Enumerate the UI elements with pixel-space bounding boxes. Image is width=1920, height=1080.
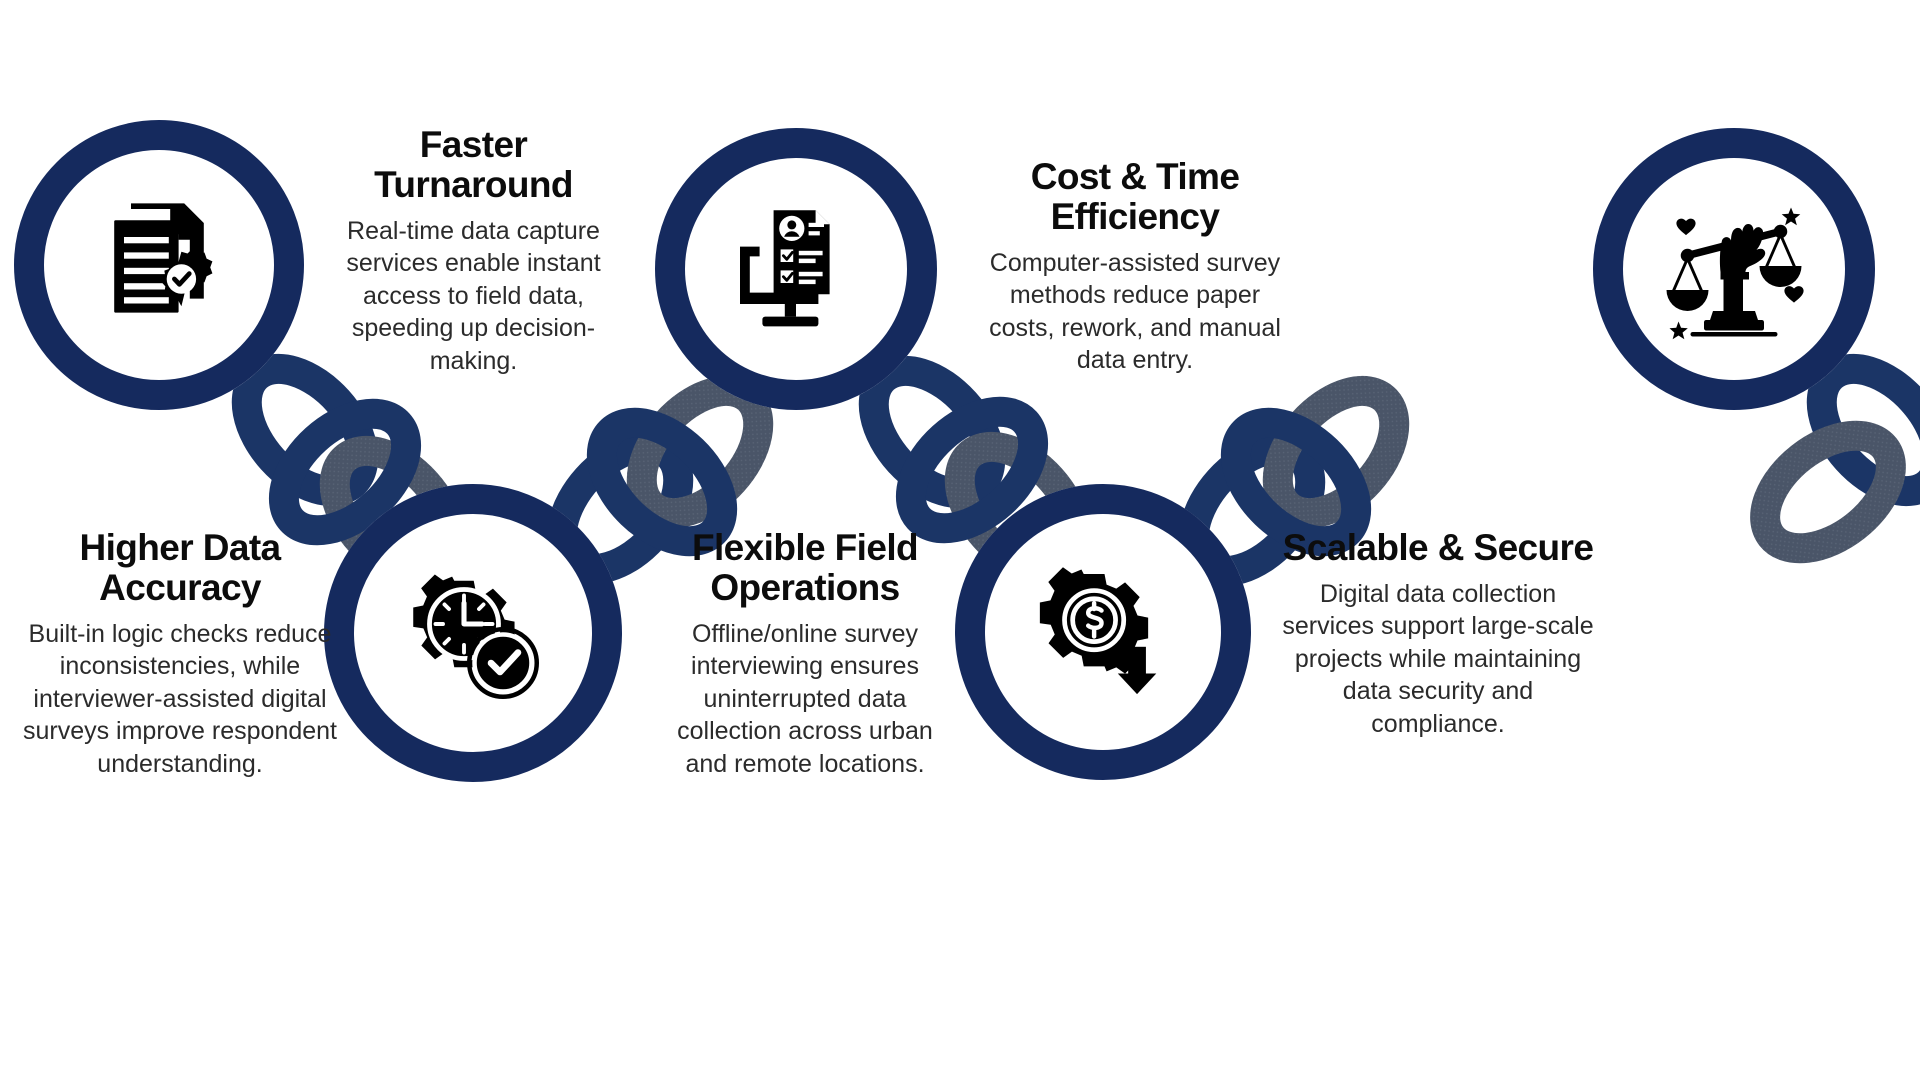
heading-cost-time-efficiency: Cost & Time Efficiency — [985, 157, 1285, 237]
document-gear-check-icon — [89, 195, 229, 335]
heading-faster-turnaround: Faster Turnaround — [325, 125, 622, 205]
text-block-cost-time-efficiency: Cost & Time Efficiency Computer-assisted… — [985, 157, 1285, 377]
badge-flexible-field-operations[interactable] — [655, 128, 937, 410]
infographic-canvas: Faster Turnaround Real-time data capture… — [0, 0, 1920, 1080]
body-scalable-secure: Digital data collection services support… — [1278, 578, 1598, 741]
body-cost-time-efficiency: Computer-assisted survey methods reduce … — [985, 247, 1285, 377]
badge-scalable-secure[interactable] — [1593, 128, 1875, 410]
text-block-faster-turnaround: Faster Turnaround Real-time data capture… — [325, 125, 622, 377]
body-faster-turnaround: Real-time data capture services enable i… — [325, 215, 622, 378]
text-block-flexible-field-operations: Flexible Field Operations Offline/online… — [655, 528, 955, 780]
badge-faster-turnaround[interactable] — [324, 484, 622, 782]
badge-higher-data-accuracy[interactable] — [14, 120, 304, 410]
text-block-scalable-secure: Scalable & Secure Digital data collectio… — [1278, 528, 1598, 740]
body-flexible-field-operations: Offline/online survey interviewing ensur… — [655, 618, 955, 781]
heading-flexible-field-operations: Flexible Field Operations — [655, 528, 955, 608]
body-higher-data-accuracy: Built-in logic checks reduce inconsisten… — [20, 618, 340, 781]
heading-higher-data-accuracy: Higher Data Accuracy — [20, 528, 340, 608]
gear-dollar-arrow-down-icon — [1029, 558, 1177, 706]
text-block-higher-data-accuracy: Higher Data Accuracy Built-in logic chec… — [20, 528, 340, 780]
badge-cost-time-efficiency[interactable] — [955, 484, 1251, 780]
monitor-survey-form-icon — [726, 199, 866, 339]
heading-scalable-secure: Scalable & Secure — [1278, 528, 1598, 568]
gear-clock-check-icon — [398, 558, 548, 708]
justice-scales-fist-icon — [1659, 194, 1809, 344]
